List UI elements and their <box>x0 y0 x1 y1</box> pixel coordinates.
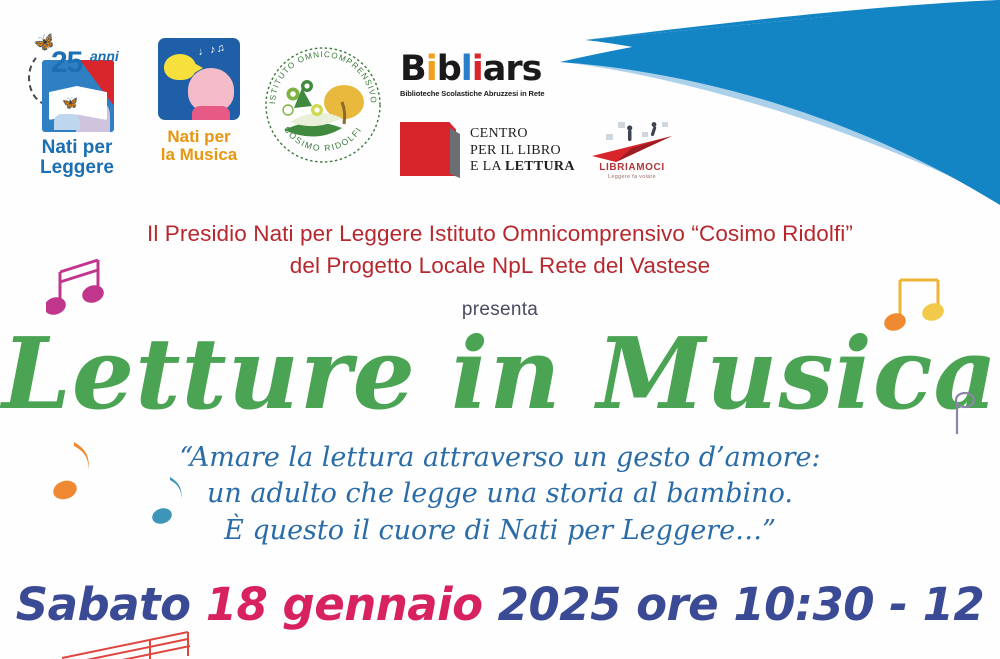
anniversary-number: 25 <box>51 46 82 80</box>
logo-nati-per-la-musica: ♩♪♫ Nati per la Musica <box>150 38 248 178</box>
anniversary-unit: anni <box>90 48 119 64</box>
headline-line-2: del Progetto Locale NpL Rete del Vastese <box>290 253 711 278</box>
date-highlight: 18 gennaio <box>206 578 483 631</box>
date-prefix: Sabato <box>16 578 206 631</box>
caption-line-2: la Musica <box>161 145 238 164</box>
logo-strip: 🦋 🦋 25 anni Nati per Leggere ♩♪♫ <box>0 0 700 200</box>
quote-line-3: È questo il cuore di Nati per Leggere…” <box>224 515 776 546</box>
bibliars-wordmark: Bibliars <box>400 52 550 87</box>
headline-line-1: Il Presidio Nati per Leggere Istituto Om… <box>147 221 853 246</box>
music-notes-icon: ♩♪♫ <box>197 42 226 59</box>
centro-line-3b: LETTURA <box>505 159 575 174</box>
quote-block: “Amare la lettura attraverso un gesto d’… <box>0 440 1000 549</box>
logo-centro-per-il-libro: CENTRO PER IL LIBRO E LA LETTURA <box>400 118 575 184</box>
logo-caption: Nati per la Musica <box>150 128 248 164</box>
quote-line-2: un adulto che legge una storia al bambin… <box>207 478 793 509</box>
bibliars-letter: r <box>505 49 521 89</box>
date-suffix: 2025 ore 10:30 - 12 <box>483 578 985 631</box>
caption-line-2: Leggere <box>40 157 114 178</box>
bibliars-letter: s <box>522 49 542 89</box>
event-title: Letture in Musica <box>0 322 1000 428</box>
libriamoci-wordmark: LIBRIAMOCI <box>586 162 678 173</box>
bibliars-letter: i <box>426 49 437 89</box>
event-date-line: Sabato 18 gennaio 2025 ore 10:30 - 12 <box>0 580 1000 630</box>
logo-nati-per-leggere: 🦋 🦋 25 anni Nati per Leggere <box>18 28 136 178</box>
bibliars-letter: l <box>461 49 472 89</box>
bibliars-subtitle: Biblioteche Scolastiche Abruzzesi in Ret… <box>400 89 550 98</box>
logo-bibliars: Bibliars Biblioteche Scolastiche Abruzze… <box>400 52 550 104</box>
bibliars-letter: B <box>400 49 426 89</box>
centro-line-2: PER IL LIBRO <box>470 143 561 158</box>
centro-line-1: CENTRO <box>470 126 528 141</box>
bibliars-letter: a <box>483 49 506 89</box>
butterfly-small-icon: 🦋 <box>62 96 78 109</box>
centro-line-3a: E LA <box>470 159 505 174</box>
paper-plane-illustration <box>586 118 678 164</box>
logo-libriamoci: LIBRIAMOCI Leggere fa volare <box>586 118 678 190</box>
bibliars-letter: i <box>472 49 483 89</box>
bibliars-letter: b <box>437 49 461 89</box>
logo-istituto-cosimo-ridolfi: ISTITUTO OMNICOMPRENSIVO COSIMO RIDOLFI <box>262 44 384 166</box>
libriamoci-tagline: Leggere fa volare <box>586 174 678 180</box>
logo-caption: Nati per Leggere <box>18 138 136 178</box>
book-spine-icon <box>450 128 460 178</box>
baby-bird-illustration: ♩♪♫ <box>158 38 240 120</box>
headline: Il Presidio Nati per Leggere Istituto Om… <box>0 218 1000 282</box>
poster-canvas: 🦋 🦋 25 anni Nati per Leggere ♩♪♫ <box>0 0 1000 659</box>
centro-wordmark: CENTRO PER IL LIBRO E LA LETTURA <box>470 126 575 176</box>
caption-line-1: Nati per <box>42 137 113 158</box>
quote-line-1: “Amare la lettura attraverso un gesto d’… <box>179 442 820 473</box>
book-icon <box>400 122 456 176</box>
caption-line-1: Nati per <box>167 127 230 146</box>
